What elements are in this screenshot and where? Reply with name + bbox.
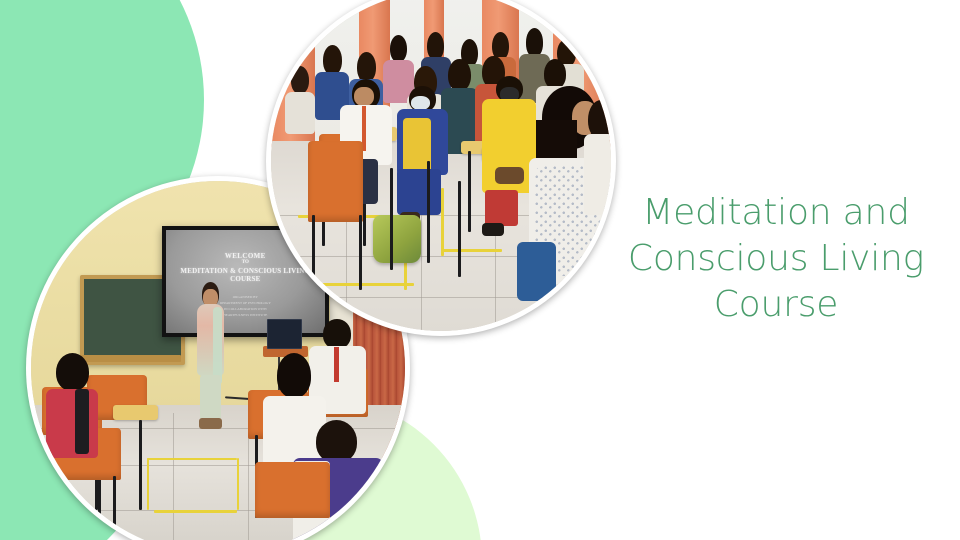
floor-tile-line xyxy=(271,297,611,298)
chair-leg xyxy=(57,476,60,540)
floor-distance-tape xyxy=(154,510,236,513)
attendee-skirt xyxy=(397,169,441,215)
attendee-head xyxy=(390,35,407,62)
attendee-head xyxy=(291,66,309,95)
attendee-trousers xyxy=(485,190,518,226)
chair-leg xyxy=(427,161,430,263)
chair-leg xyxy=(458,181,461,276)
chair-leg xyxy=(359,215,362,290)
presenter xyxy=(192,282,229,432)
chair-leg xyxy=(390,168,393,270)
attendee-head xyxy=(588,100,611,139)
projected-slide-line1: WELCOME xyxy=(225,252,266,261)
chair-leg xyxy=(113,476,116,540)
attendee-lanyard xyxy=(334,347,339,382)
attendee-head xyxy=(427,32,444,60)
attendee-hair xyxy=(56,353,89,391)
attendee-yellow-kurta xyxy=(482,76,536,239)
projected-slide-line4: COURSE xyxy=(230,275,260,284)
chair-writing-pad xyxy=(113,405,158,420)
presenter-trousers xyxy=(200,375,221,420)
chair xyxy=(308,141,362,223)
attendee-hair xyxy=(316,420,357,463)
attendee-bag-strap xyxy=(75,389,89,454)
floor-distance-tape xyxy=(312,283,414,286)
attendee-head xyxy=(526,28,543,56)
attendee-top xyxy=(285,92,316,134)
attendee-head xyxy=(448,59,470,91)
presentation-slide: WELCOME TO MEDITATION & CONSCIOUS LIVING… xyxy=(0,0,960,540)
attendee-head xyxy=(323,45,342,75)
presenter-shoes xyxy=(199,418,221,428)
attendee-head xyxy=(357,52,376,82)
chair-leg xyxy=(468,151,471,233)
attendee-right-edge xyxy=(584,100,611,216)
attendee-back-row xyxy=(285,66,316,134)
attendee-head xyxy=(544,59,566,89)
attendee-bag xyxy=(517,242,556,301)
attendee-sandals xyxy=(482,223,504,236)
floor-distance-tape xyxy=(441,249,502,252)
chair xyxy=(255,462,330,518)
slide-title: Meditation and Conscious Living Course xyxy=(626,190,926,328)
attendee-face xyxy=(354,87,374,106)
photo-audience-image xyxy=(271,0,611,331)
chair-leg xyxy=(312,215,315,290)
photo-audience-circle xyxy=(266,0,616,336)
attendee-waist-pouch xyxy=(495,167,524,183)
floor-tile-line xyxy=(173,413,174,540)
floor-distance-tape xyxy=(237,458,240,510)
floor-distance-tape xyxy=(147,458,237,461)
presenter-dupatta xyxy=(213,307,221,385)
attendee-blue-yellow-saree xyxy=(397,86,448,229)
attendee-top xyxy=(46,389,98,459)
chair-leg xyxy=(139,420,142,510)
attendee-top xyxy=(584,134,611,215)
attendee-left xyxy=(42,353,106,465)
backpack-on-floor xyxy=(373,215,421,263)
